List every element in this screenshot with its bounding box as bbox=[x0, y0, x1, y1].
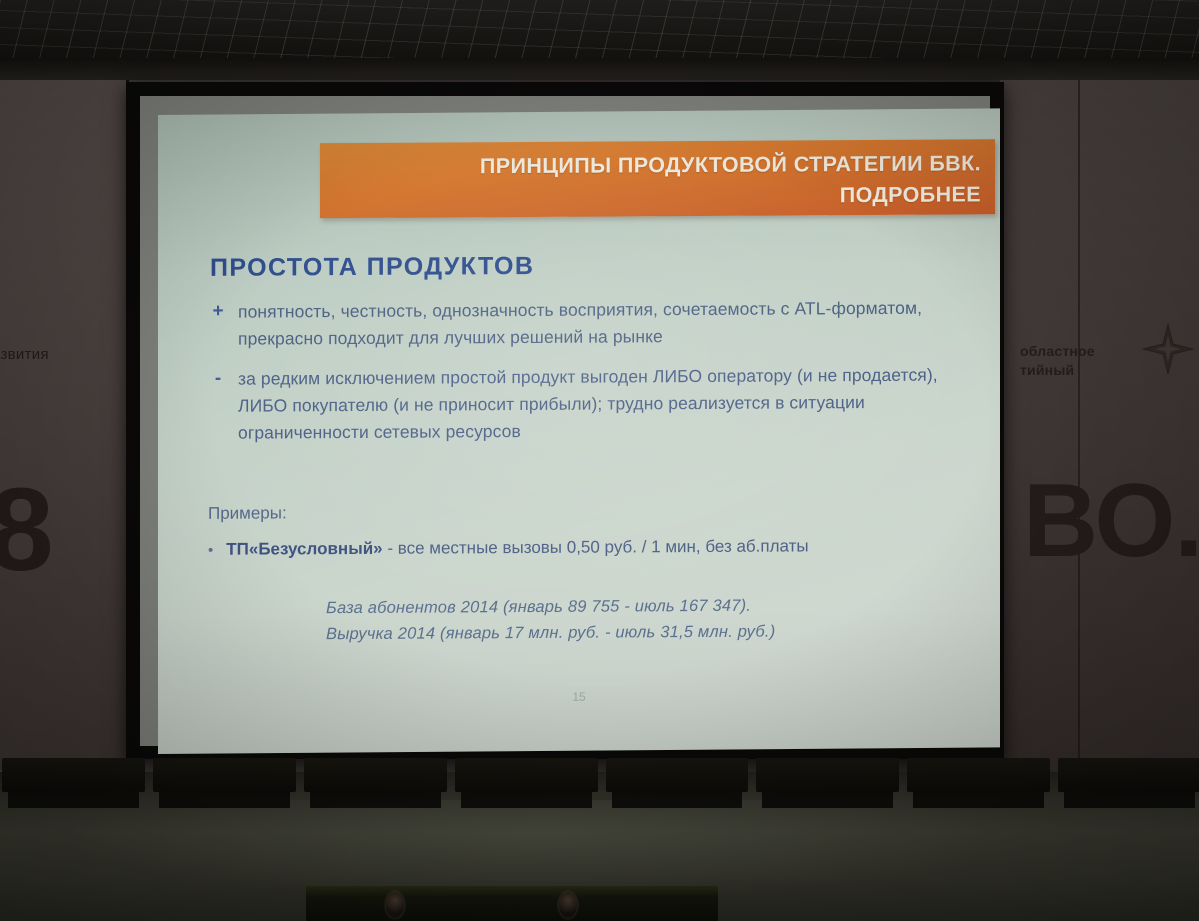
lecture-hall-photo: азвития и 8 областное тийный ВО. ПРИНЦИП… bbox=[0, 0, 1199, 921]
floor-light-sheen bbox=[0, 800, 1199, 900]
projection-screen-frame: ПРИНЦИПЫ ПРОДУКТОВОЙ СТРАТЕГИИ БВК. ПОДР… bbox=[126, 82, 1004, 759]
examples-label: Примеры: bbox=[208, 503, 287, 523]
ceiling-grid bbox=[0, 0, 1199, 62]
bullet-marker-minus: - bbox=[210, 366, 226, 447]
chair bbox=[2, 758, 145, 792]
chair bbox=[455, 758, 598, 792]
chair-row bbox=[0, 758, 1199, 810]
stage-table-knob bbox=[386, 892, 404, 918]
example-description: - все местные вызовы 0,50 руб. / 1 мин, … bbox=[383, 536, 809, 557]
example-tariff-name: ТП«Безусловный» bbox=[226, 539, 382, 559]
chair bbox=[907, 758, 1050, 792]
slide-title-line-1: ПРИНЦИПЫ ПРОДУКТОВОЙ СТРАТЕГИИ БВК. bbox=[320, 139, 995, 178]
wall-text-right-big: ВО. bbox=[1023, 462, 1199, 581]
slide-heading: ПРОСТОТА ПРОДУКТОВ bbox=[210, 252, 534, 283]
wall-text-right-small: областное тийный bbox=[1020, 342, 1095, 380]
slide-title-line-2: ПОДРОБНЕЕ bbox=[320, 175, 995, 209]
slide-page-number: 15 bbox=[158, 687, 1000, 706]
bullet-item: - за редким исключением простой продукт … bbox=[210, 361, 970, 446]
projection-screen-mat: ПРИНЦИПЫ ПРОДУКТОВОЙ СТРАТЕГИИ БВК. ПОДР… bbox=[140, 96, 990, 746]
wall-text-left-big: 8 bbox=[0, 462, 52, 598]
chair bbox=[1058, 758, 1199, 792]
example-text: ТП«Безусловный» - все местные вызовы 0,5… bbox=[226, 536, 808, 559]
example-list-item: • ТП«Безусловный» - все местные вызовы 0… bbox=[208, 536, 809, 559]
wall-panel-right bbox=[1000, 80, 1199, 770]
stage-table-knob bbox=[559, 892, 577, 918]
chair bbox=[606, 758, 749, 792]
bullet-text: понятность, честность, однозначность вос… bbox=[238, 294, 970, 352]
notes-line-subscribers: База абонентов 2014 (январь 89 755 - июл… bbox=[326, 593, 775, 622]
chair bbox=[153, 758, 296, 792]
wall-text-left-small: азвития и bbox=[0, 345, 49, 385]
chair bbox=[756, 758, 899, 792]
bullet-marker-plus: + bbox=[210, 299, 226, 353]
stage-table bbox=[306, 886, 718, 921]
wall-seam bbox=[1078, 80, 1080, 770]
wall-panel-left bbox=[0, 80, 129, 770]
slide-notes: База абонентов 2014 (январь 89 755 - июл… bbox=[326, 593, 775, 648]
notes-line-revenue: Выручка 2014 (январь 17 млн. руб. - июль… bbox=[326, 619, 775, 648]
slide-title-banner: ПРИНЦИПЫ ПРОДУКТОВОЙ СТРАТЕГИИ БВК. ПОДР… bbox=[320, 139, 995, 218]
presentation-slide: ПРИНЦИПЫ ПРОДУКТОВОЙ СТРАТЕГИИ БВК. ПОДР… bbox=[158, 108, 1000, 754]
bullet-text: за редким исключением простой продукт вы… bbox=[238, 361, 970, 446]
example-bullet-dot: • bbox=[208, 543, 213, 558]
slide-bullet-list: + понятность, честность, однозначность в… bbox=[210, 294, 970, 459]
chair bbox=[304, 758, 447, 792]
compass-star-icon bbox=[1141, 320, 1195, 378]
bullet-item: + понятность, честность, однозначность в… bbox=[210, 294, 970, 352]
